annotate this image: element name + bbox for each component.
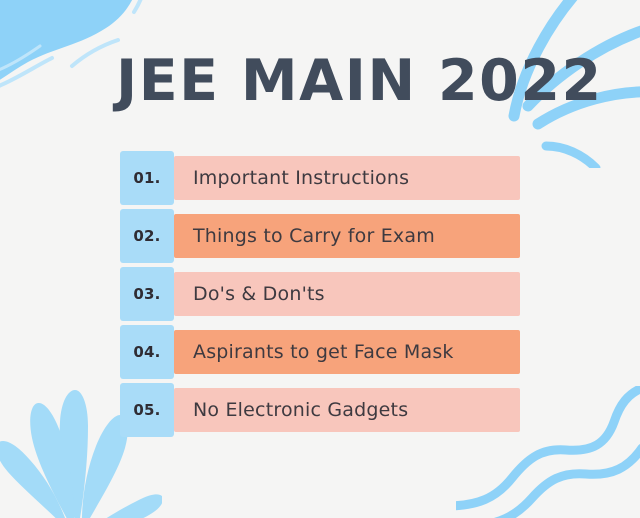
list-item-label: Do's & Don'ts [193,283,325,305]
list-item-bar: No Electronic Gadgets [174,388,520,432]
list-item[interactable]: 02. Things to Carry for Exam [120,214,520,258]
list-item-label: Things to Carry for Exam [193,225,435,247]
list-item[interactable]: 03. Do's & Don'ts [120,272,520,316]
list-item-bar: Things to Carry for Exam [174,214,520,258]
list-item-number: 03. [120,267,174,321]
list-item-label: No Electronic Gadgets [193,399,408,421]
poster-canvas: JEE MAIN 2022 01. Important Instructions… [0,0,640,518]
list-item-number: 02. [120,209,174,263]
list-item-number: 04. [120,325,174,379]
list-item[interactable]: 05. No Electronic Gadgets [120,388,520,432]
list-item-label: Important Instructions [193,167,409,189]
list-item-number: 05. [120,383,174,437]
list-item[interactable]: 04. Aspirants to get Face Mask [120,330,520,374]
list-item-bar: Aspirants to get Face Mask [174,330,520,374]
list-item-bar: Do's & Don'ts [174,272,520,316]
list-item-number: 01. [120,151,174,205]
page-title: JEE MAIN 2022 [116,53,603,110]
list-item[interactable]: 01. Important Instructions [120,156,520,200]
instruction-list: 01. Important Instructions 02. Things to… [120,156,520,432]
list-item-bar: Important Instructions [174,156,520,200]
list-item-label: Aspirants to get Face Mask [193,341,454,363]
